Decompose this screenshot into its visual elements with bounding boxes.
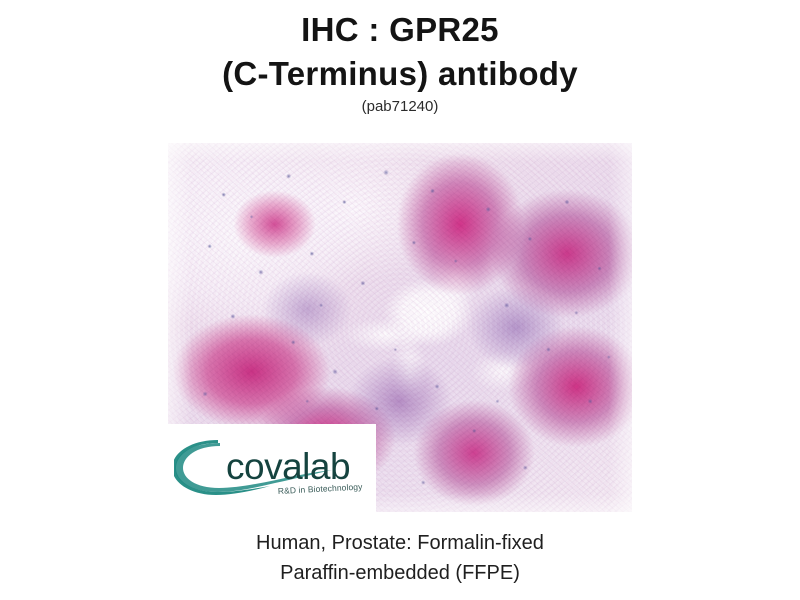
ihc-micrograph: covalab R&D in Biotechnology — [168, 143, 632, 512]
catalog-number: (pab71240) — [0, 97, 800, 117]
covalab-logo-svg: covalab R&D in Biotechnology — [174, 437, 370, 499]
page-title-line-1: IHC : GPR25 — [0, 8, 800, 52]
page-title-line-2: (C-Terminus) antibody — [0, 52, 800, 96]
caption-line-1: Human, Prostate: Formalin-fixed — [0, 528, 800, 558]
logo-wordmark-text: covalab — [226, 446, 350, 487]
figure-caption: Human, Prostate: Formalin-fixed Paraffin… — [0, 528, 800, 588]
title-block: IHC : GPR25 (C-Terminus) antibody (pab71… — [0, 0, 800, 117]
covalab-logo-overlay: covalab R&D in Biotechnology — [168, 424, 376, 512]
product-image-card: IHC : GPR25 (C-Terminus) antibody (pab71… — [0, 0, 800, 600]
caption-line-2: Paraffin-embedded (FFPE) — [0, 558, 800, 588]
covalab-logo: covalab R&D in Biotechnology — [174, 437, 370, 499]
